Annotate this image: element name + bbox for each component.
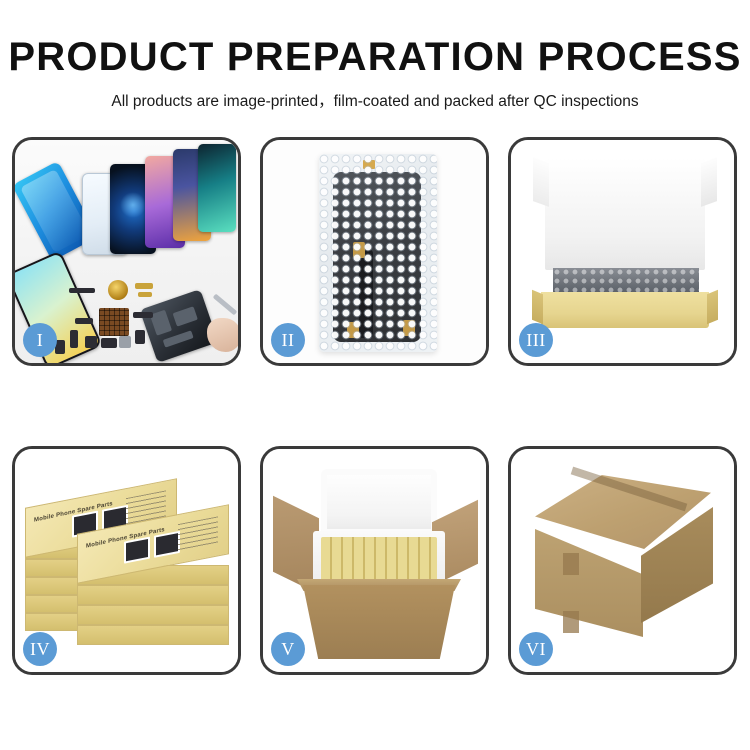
stacked-box bbox=[77, 625, 229, 645]
screw-plate-part bbox=[119, 336, 131, 348]
button-flex-part bbox=[75, 318, 93, 324]
foam-case-lid bbox=[321, 469, 437, 535]
process-step-panel-3: III bbox=[508, 137, 737, 366]
stacked-box bbox=[77, 585, 229, 605]
packed-yellow-boxes bbox=[321, 537, 437, 581]
stacked-box bbox=[77, 605, 229, 625]
page-header: PRODUCT PREPARATION PROCESS All products… bbox=[0, 0, 750, 111]
process-step-panel-1: I bbox=[12, 137, 241, 366]
speaker-coil-part bbox=[108, 280, 128, 300]
logic-board-part bbox=[99, 308, 129, 336]
retail-box-stack: Mobile Phone Spare Parts Mobile Phone Sp… bbox=[21, 467, 233, 663]
process-step-panel-2: II bbox=[260, 137, 489, 366]
white-box-lid bbox=[545, 158, 705, 270]
bubble-wrapped-contents bbox=[553, 268, 699, 294]
yellow-box-base bbox=[541, 292, 709, 328]
process-step-panel-4: Mobile Phone Spare Parts Mobile Phone Sp… bbox=[12, 446, 241, 675]
vibrator-part bbox=[85, 336, 97, 348]
bubble-texture bbox=[319, 154, 437, 352]
open-carton-body bbox=[303, 585, 455, 659]
carton-tape-lower bbox=[563, 611, 579, 633]
carton-front-face bbox=[535, 529, 643, 637]
process-step-panel-6: VI bbox=[508, 446, 737, 675]
page-subtitle: All products are image-printed，film-coat… bbox=[0, 89, 750, 111]
step-badge-1: I bbox=[23, 323, 57, 357]
flex-cable-part bbox=[135, 283, 153, 289]
step-badge-5: V bbox=[271, 632, 305, 666]
technician-hand bbox=[207, 318, 238, 352]
earpiece-part bbox=[101, 338, 117, 348]
carton-tape-upper bbox=[563, 553, 579, 575]
sim-tray-part bbox=[135, 330, 145, 344]
antenna-part bbox=[69, 288, 95, 293]
page-title: PRODUCT PREPARATION PROCESS bbox=[0, 36, 750, 78]
charging-port-part bbox=[133, 312, 153, 318]
step-badge-6: VI bbox=[519, 632, 553, 666]
camera-module-part bbox=[70, 330, 78, 348]
step-badge-3: III bbox=[519, 323, 553, 357]
teal-phone-screen bbox=[198, 144, 236, 232]
bubble-wrap-bag bbox=[319, 154, 437, 352]
step-badge-4: IV bbox=[23, 632, 57, 666]
tweezers-tool bbox=[213, 294, 238, 316]
process-steps-grid: I II III bbox=[12, 137, 738, 675]
step-badge-2: II bbox=[271, 323, 305, 357]
phone-back-housing bbox=[140, 289, 219, 363]
box-spec-text-lines bbox=[178, 516, 218, 552]
connector-part bbox=[138, 292, 152, 297]
process-step-panel-5: V bbox=[260, 446, 489, 675]
